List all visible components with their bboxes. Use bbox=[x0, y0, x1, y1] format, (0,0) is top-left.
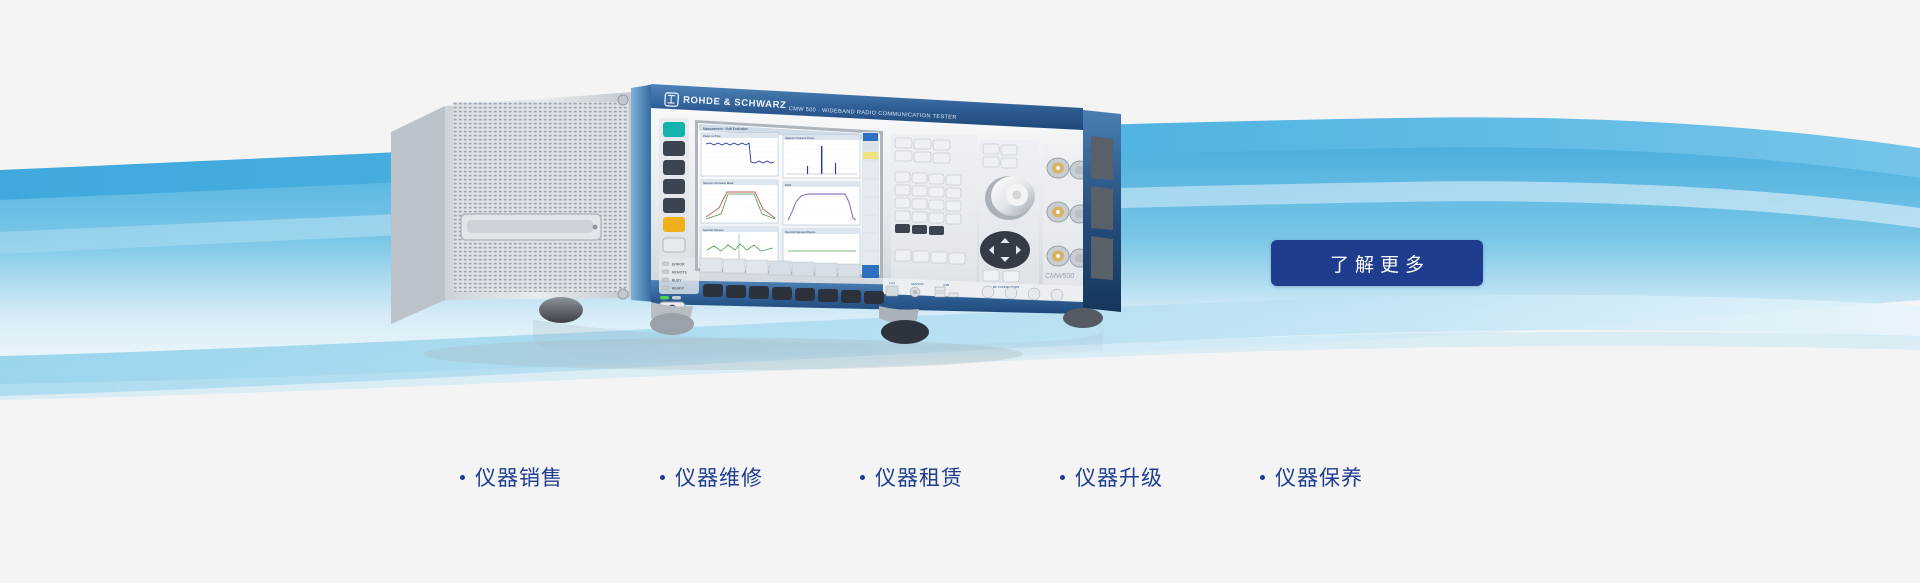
connector-label-usb: USB bbox=[943, 283, 949, 287]
led-remote-label: REMOTE bbox=[672, 271, 688, 275]
panel-title: Spectrum Emission Mask bbox=[703, 181, 734, 185]
bullet-icon bbox=[860, 475, 865, 480]
instrument-carry-handle bbox=[1083, 110, 1121, 312]
led-ready-label: READY bbox=[672, 287, 685, 291]
panel-power-vs-time: Power vs Time bbox=[701, 133, 778, 176]
hero-banner: ROHDE & SCHWARZ CMW 500 · WIDEBAND RADIO… bbox=[0, 0, 1920, 583]
service-label: 仪器销售 bbox=[475, 462, 563, 492]
bullet-icon bbox=[460, 475, 465, 480]
service-label: 仪器租赁 bbox=[875, 462, 963, 492]
status-led-group: ERROR REMOTE BUSY READY bbox=[659, 258, 699, 294]
instrument-keypad bbox=[891, 134, 977, 284]
led-busy bbox=[662, 278, 669, 281]
service-label: 仪器升级 bbox=[1075, 462, 1163, 492]
rf-connector-panel: CMW500 bbox=[1043, 144, 1090, 286]
led-remote bbox=[662, 270, 669, 273]
service-link-repair[interactable]: 仪器维修 bbox=[660, 462, 860, 492]
instrument-knob-area bbox=[979, 140, 1039, 286]
panel-spectrum-emission-mask: Spectrum Emission Mask bbox=[701, 180, 778, 223]
service-link-upgrade[interactable]: 仪器升级 bbox=[1060, 462, 1260, 492]
panel-title: Power vs Time bbox=[703, 134, 721, 138]
panel-title: Spectral Flatness bbox=[703, 228, 724, 232]
service-link-maintenance[interactable]: 仪器保养 bbox=[1260, 462, 1460, 492]
panel-title: EVM bbox=[785, 183, 792, 187]
panel-title: Spectral Flatness Ripples bbox=[785, 230, 816, 234]
bullet-icon bbox=[660, 475, 665, 480]
connector-label-lan: LAN bbox=[889, 281, 895, 285]
panel-adjacent-channel-power: Adjacent Channel Power bbox=[783, 135, 860, 178]
service-links: 仪器销售 仪器维修 仪器租赁 仪器升级 仪器保养 bbox=[0, 462, 1920, 492]
instrument-display: Measurement · Multi Evaluation Power vs … bbox=[695, 120, 883, 278]
bullet-icon bbox=[1060, 475, 1065, 480]
left-softkey-column bbox=[659, 118, 689, 278]
panel-evm: EVM bbox=[783, 182, 860, 225]
instrument-image: ROHDE & SCHWARZ CMW 500 · WIDEBAND RADIO… bbox=[383, 62, 1123, 392]
rf-port-label: RF2A bbox=[1004, 301, 1011, 304]
service-label: 仪器保养 bbox=[1275, 462, 1363, 492]
service-link-sales[interactable]: 仪器销售 bbox=[460, 462, 660, 492]
key-print bbox=[663, 198, 685, 213]
led-ready bbox=[662, 286, 669, 289]
instrument-side-panel bbox=[391, 84, 655, 324]
bullet-icon bbox=[1260, 475, 1265, 480]
rf-port-label: RF1B bbox=[1027, 302, 1034, 305]
key-sys bbox=[663, 238, 685, 252]
key-save-rcl bbox=[663, 160, 685, 175]
learn-more-button[interactable]: 了解更多 bbox=[1271, 240, 1483, 286]
led-error bbox=[662, 262, 669, 265]
model-badge: CMW500 bbox=[1045, 273, 1074, 280]
led-error-label: ERROR bbox=[672, 263, 685, 267]
key-preset bbox=[663, 122, 685, 137]
led-busy-label: BUSY bbox=[672, 279, 682, 283]
key-setup bbox=[663, 141, 685, 156]
rf-port-label: RF1A bbox=[981, 300, 988, 303]
rf-port-label: RF2B bbox=[1050, 303, 1057, 306]
service-label: 仪器维修 bbox=[675, 462, 763, 492]
key-info bbox=[663, 179, 685, 194]
panel-title: Adjacent Channel Power bbox=[785, 136, 815, 140]
key-help bbox=[663, 217, 685, 232]
connector-label-sensor: SENSOR bbox=[911, 282, 925, 286]
display-title: Measurement · Multi Evaluation bbox=[703, 127, 748, 131]
service-link-rental[interactable]: 仪器租赁 bbox=[860, 462, 1060, 492]
display-right-menu bbox=[862, 132, 879, 275]
